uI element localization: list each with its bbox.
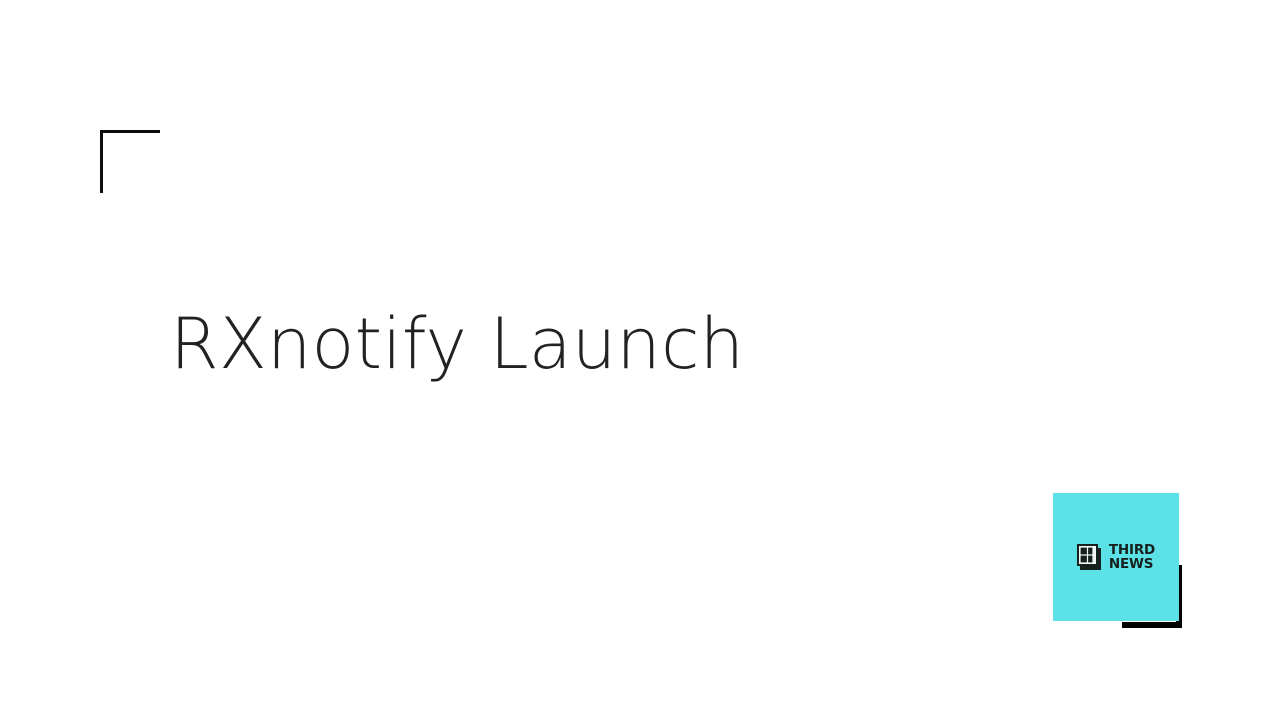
logo-lockup: THIRD NEWS <box>1053 493 1183 629</box>
logo-wordmark-line2: NEWS <box>1109 557 1155 572</box>
logo-wordmark-line1: THIRD <box>1109 543 1155 558</box>
logo-inner: THIRD NEWS <box>1077 543 1155 572</box>
presentation-slide: RXnotify Launch THIRD <box>0 0 1280 720</box>
logo-tile: THIRD NEWS <box>1053 493 1179 621</box>
newspaper-icon <box>1077 544 1103 571</box>
logo-wordmark: THIRD NEWS <box>1109 543 1155 572</box>
page-title: RXnotify Launch <box>170 302 744 386</box>
corner-bracket-top-left-icon <box>100 130 160 193</box>
